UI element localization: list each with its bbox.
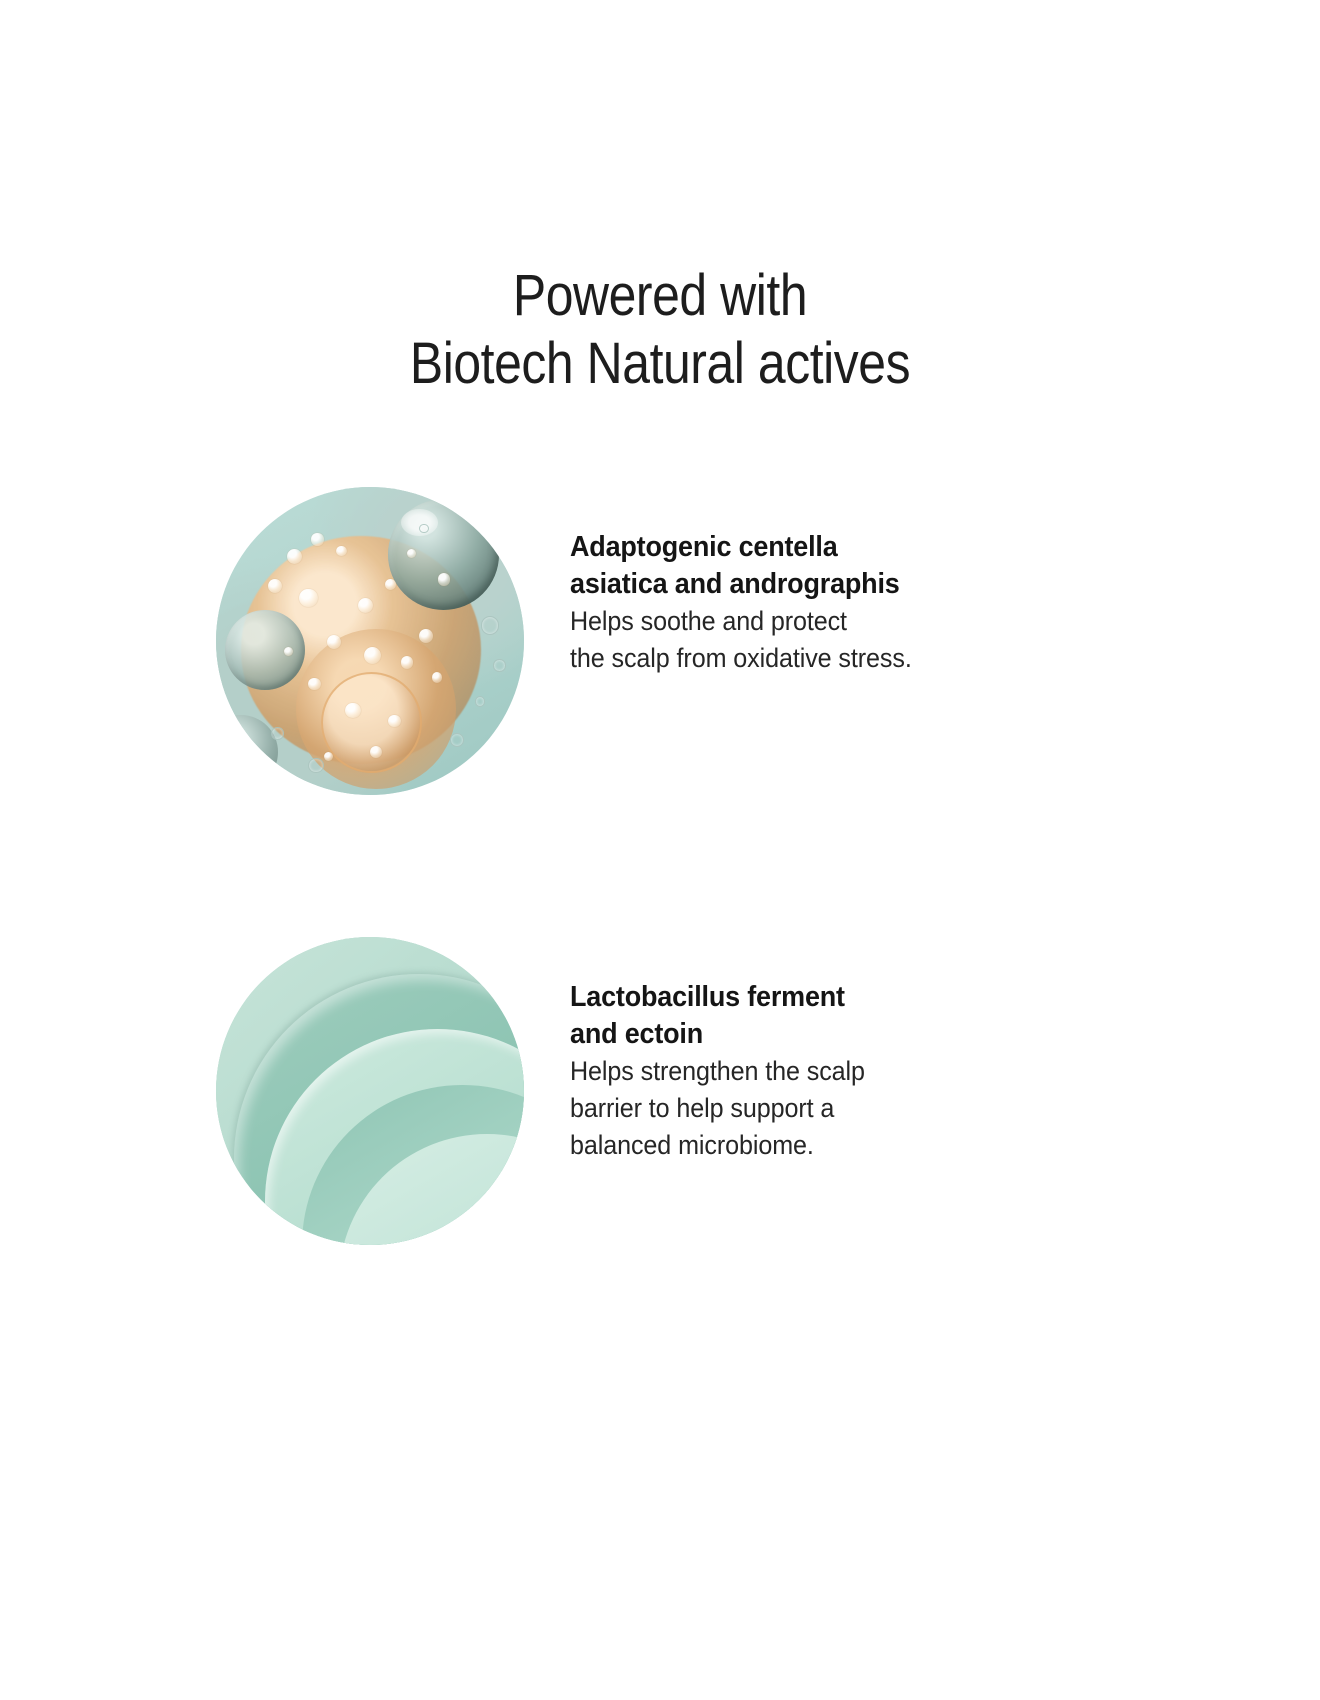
oil-bubble (432, 672, 443, 683)
oil-bubble (401, 656, 413, 668)
oil-bubble (287, 549, 302, 564)
feature-description-line-2: barrier to help support a (570, 1090, 1016, 1127)
feature-title-line-2: asiatica and andrographis (570, 566, 1016, 603)
oil-ring-bubble (493, 659, 505, 671)
feature-title: Lactobacillus ferment and ectoin (570, 979, 1016, 1053)
oil-bubble (364, 647, 381, 664)
page-root: Powered with Biotech Natural actives (0, 0, 1320, 1700)
feature-row-adaptogenic-centella: Adaptogenic centella asiatica and androg… (216, 487, 1116, 795)
feature-title-line-1: Lactobacillus ferment (570, 979, 1016, 1016)
oil-bubble (345, 703, 360, 718)
feature-title-line-2: and ectoin (570, 1016, 1016, 1053)
feature-description-line-1: Helps soothe and protect (570, 603, 1016, 640)
oil-bubble (336, 546, 347, 557)
page-title-line-2: Biotech Natural actives (92, 330, 1227, 398)
oil-ring-bubble (271, 727, 283, 739)
feature-description-line-1: Helps strengthen the scalp (570, 1053, 1016, 1090)
oil-sphere-highlight (401, 509, 438, 537)
feature-title: Adaptogenic centella asiatica and androg… (570, 529, 1016, 603)
oil-sphere-mid-left (225, 610, 305, 690)
oil-bubble (311, 533, 323, 545)
oil-bubble (438, 573, 450, 585)
mint-texture-image (216, 937, 524, 1245)
feature-description: Helps strengthen the scalp barrier to he… (570, 1053, 1016, 1164)
oil-bubble (327, 635, 341, 649)
oil-droplets-image (216, 487, 524, 795)
oil-bubble (419, 629, 433, 643)
oil-ring-bubble (308, 758, 323, 773)
oil-bubble (324, 752, 333, 761)
feature-description-line-2: the scalp from oxidative stress. (570, 640, 1016, 677)
feature-text-column: Lactobacillus ferment and ectoin Helps s… (570, 937, 1050, 1164)
oil-bubble (308, 678, 320, 690)
page-title: Powered with Biotech Natural actives (92, 262, 1227, 398)
oil-bubble (407, 549, 416, 558)
oil-bubble (388, 715, 400, 727)
oil-ring-bubble (419, 524, 428, 533)
oil-bubble (299, 589, 317, 607)
oil-amber-ring (321, 672, 423, 774)
feature-description: Helps soothe and protect the scalp from … (570, 603, 1016, 677)
page-title-line-1: Powered with (92, 262, 1227, 330)
feature-description-line-3: balanced microbiome. (570, 1127, 1016, 1164)
feature-row-lactobacillus-ferment: Lactobacillus ferment and ectoin Helps s… (216, 937, 1116, 1245)
feature-text-column: Adaptogenic centella asiatica and androg… (570, 487, 1050, 677)
oil-ring-bubble (481, 616, 499, 634)
feature-title-line-1: Adaptogenic centella (570, 529, 1016, 566)
